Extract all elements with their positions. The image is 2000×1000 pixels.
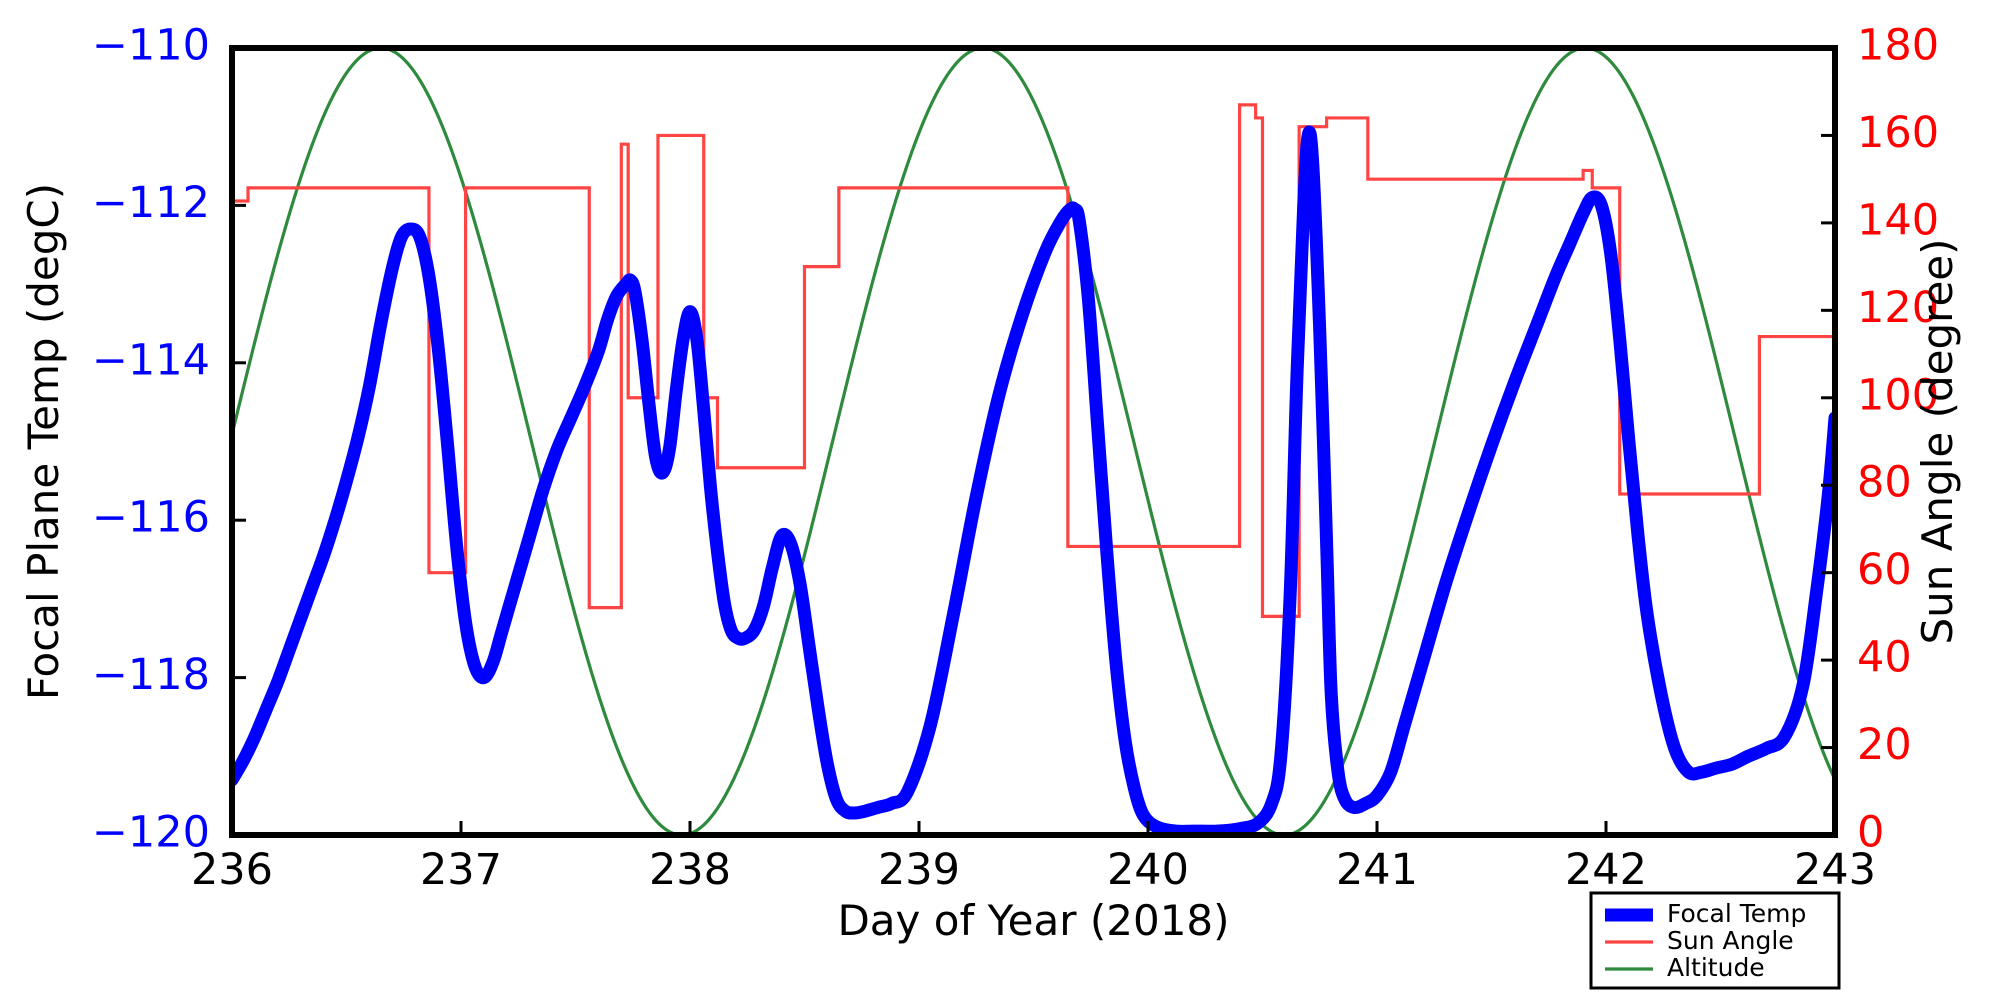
series-line-altitude bbox=[232, 48, 1835, 835]
y-right-tick-label: 20 bbox=[1857, 720, 1912, 770]
y-right-tick-label: 160 bbox=[1857, 108, 1939, 158]
x-tick-label: 242 bbox=[1565, 845, 1647, 895]
series-line-sun-angle bbox=[232, 105, 1835, 617]
y-left-tick-label: −116 bbox=[92, 493, 210, 543]
y-left-tick-label: −120 bbox=[92, 808, 210, 858]
legend-label-sun-angle: Sun Angle bbox=[1667, 926, 1794, 955]
legend-label-focal-temp: Focal Temp bbox=[1667, 899, 1806, 928]
y-right-tick-label: 140 bbox=[1857, 195, 1939, 245]
y-right-tick-label: 40 bbox=[1857, 633, 1912, 683]
y-right-tick-label: 0 bbox=[1857, 808, 1884, 858]
y-right-tick-label: 180 bbox=[1857, 21, 1939, 71]
plot-frame bbox=[232, 48, 1835, 835]
x-tick-label: 237 bbox=[420, 845, 502, 895]
x-tick-label: 239 bbox=[878, 845, 960, 895]
y-right-tick-label: 80 bbox=[1857, 458, 1912, 508]
series-line-focal-temp bbox=[232, 132, 1835, 831]
figure-canvas: 236237238239240241242243−120−118−116−114… bbox=[0, 0, 2000, 1000]
y-left-tick-label: −118 bbox=[92, 650, 210, 700]
x-tick-label: 238 bbox=[649, 845, 731, 895]
legend-label-altitude: Altitude bbox=[1667, 953, 1765, 982]
y-right-tick-label: 60 bbox=[1857, 545, 1912, 595]
chart-svg: 236237238239240241242243−120−118−116−114… bbox=[0, 0, 2000, 1000]
y-left-tick-label: −110 bbox=[92, 21, 210, 71]
x-axis-title: Day of Year (2018) bbox=[837, 896, 1229, 945]
x-tick-label: 241 bbox=[1336, 845, 1418, 895]
y-right-axis-title: Sun Angle (degree) bbox=[1913, 238, 1962, 644]
y-left-axis-title: Focal Plane Temp (degC) bbox=[19, 183, 68, 700]
y-left-tick-label: −112 bbox=[92, 178, 210, 228]
y-left-tick-label: −114 bbox=[92, 335, 210, 385]
x-tick-label: 240 bbox=[1107, 845, 1189, 895]
